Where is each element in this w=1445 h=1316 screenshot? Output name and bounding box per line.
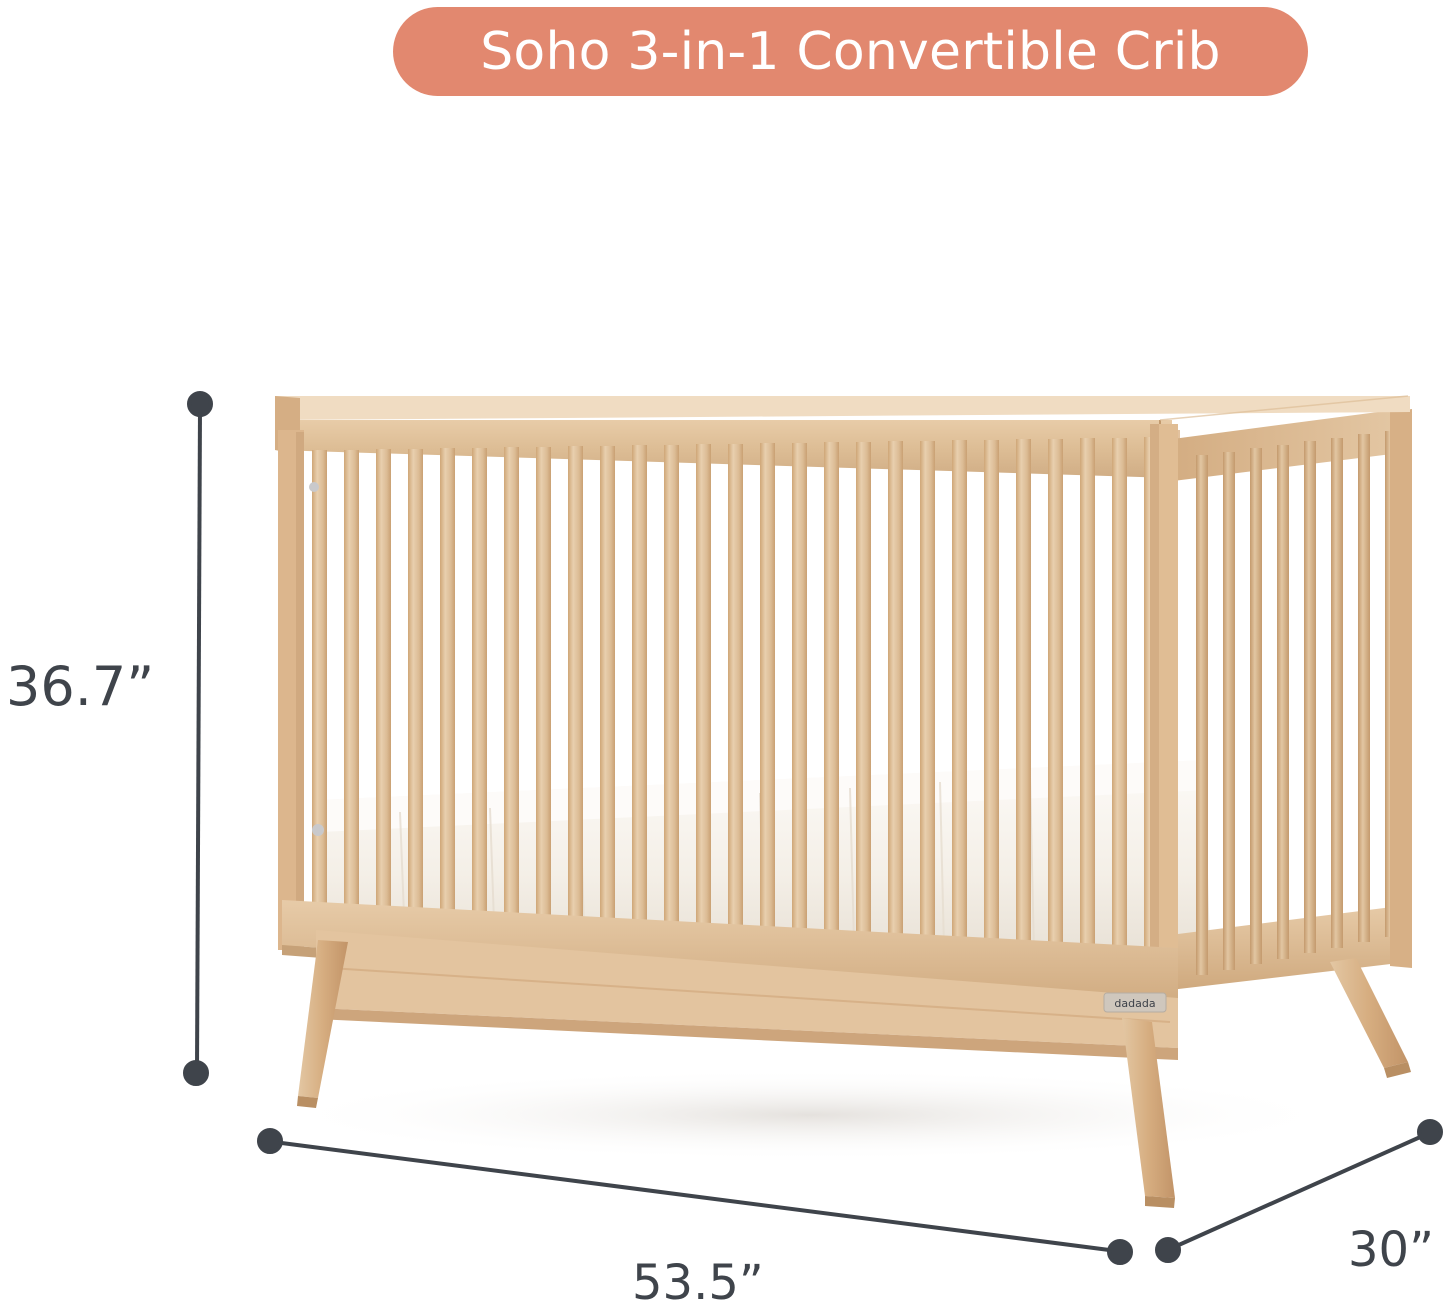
floor-shadow [270, 1069, 1350, 1161]
brand-plate: dadada [1104, 993, 1166, 1012]
brand-plate-text: dadada [1114, 997, 1155, 1010]
crib-product-photo: dadada [0, 0, 1445, 1316]
product-title-banner: Soho 3-in-1 Convertible Crib [393, 7, 1308, 96]
crib-right-post [1150, 424, 1178, 969]
hardware-screw [312, 824, 324, 836]
product-dimension-image: dadada [0, 0, 1445, 1316]
crib-side-panel [1165, 408, 1412, 990]
height-dimension-line [185, 393, 211, 1084]
product-title-text: Soho 3-in-1 Convertible Crib [480, 22, 1221, 82]
crib-illustration: dadada [0, 0, 1445, 1316]
hardware-screw [309, 482, 319, 492]
leg-rear-right [1330, 958, 1408, 1068]
